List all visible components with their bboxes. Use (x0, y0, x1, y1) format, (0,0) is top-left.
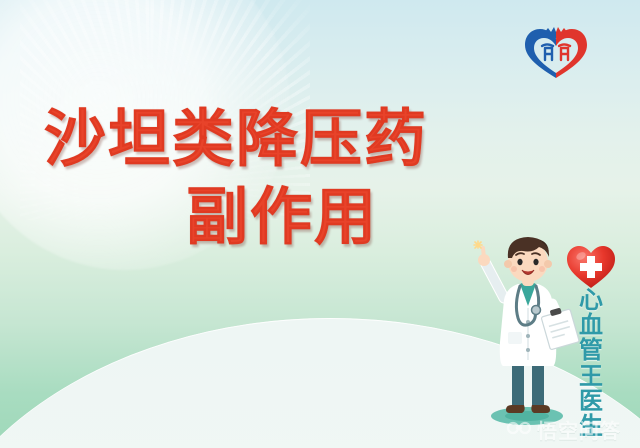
poster-canvas: 沙坦类降压药 副作用 (0, 0, 640, 448)
brand-char-2: 血 (574, 313, 608, 338)
title-line-1: 沙坦类降压药 (0, 108, 470, 170)
watermark: 悟空问答 (506, 419, 621, 442)
brand-char-5: 医 (574, 389, 608, 414)
brand-char-3: 管 (574, 338, 608, 363)
poster-title: 沙坦类降压药 副作用 (0, 108, 470, 248)
title-line-2: 副作用 (0, 186, 470, 248)
brand-vertical-text: 心 血 管 王 医 生 (574, 288, 608, 439)
heart-with-medical-cross (565, 243, 617, 291)
watermark-text: 悟空问答 (537, 421, 621, 441)
brand-char-4: 王 (574, 364, 608, 389)
heart-handshake-logo (518, 24, 594, 82)
brand-char-1: 心 (574, 288, 608, 313)
wukong-logo-icon (506, 419, 532, 442)
